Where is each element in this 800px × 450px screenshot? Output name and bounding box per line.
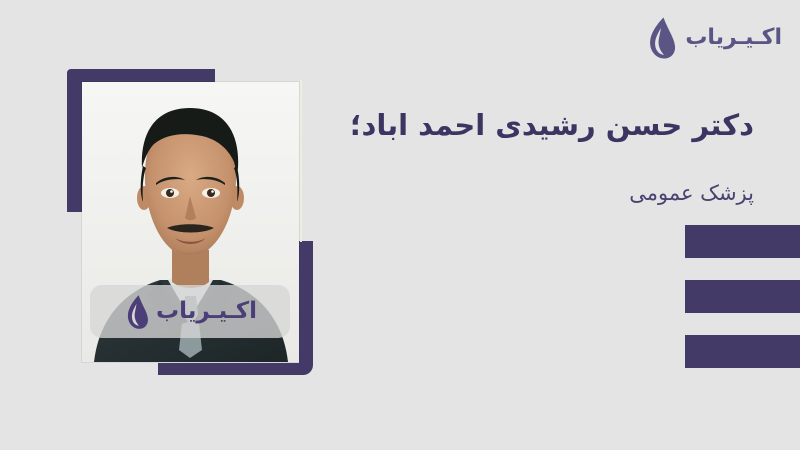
- portrait-composition: اکـیـریاب: [67, 69, 317, 379]
- flame-droplet-icon: [644, 16, 678, 60]
- brand-name: اکـیـریاب: [685, 27, 782, 49]
- decor-bar-2: [685, 280, 800, 313]
- brand-logo: اکـیـریاب: [644, 16, 782, 60]
- decor-accent-line: [300, 80, 302, 242]
- watermark-brand-name: اکـیـریاب: [156, 300, 257, 323]
- doctor-specialty: پزشک عمومی: [629, 180, 754, 207]
- page-title: دکتر حسن رشیدی احمد اباد؛: [300, 107, 754, 143]
- doctor-profile-slide: اکـیـریاب دکتر حسن رشیدی احمد اباد؛ پزشک…: [0, 0, 800, 450]
- flame-droplet-icon: [123, 294, 150, 330]
- photo-watermark: اکـیـریاب: [90, 285, 290, 338]
- decor-bar-1: [685, 225, 800, 258]
- decor-bar-3: [685, 335, 800, 368]
